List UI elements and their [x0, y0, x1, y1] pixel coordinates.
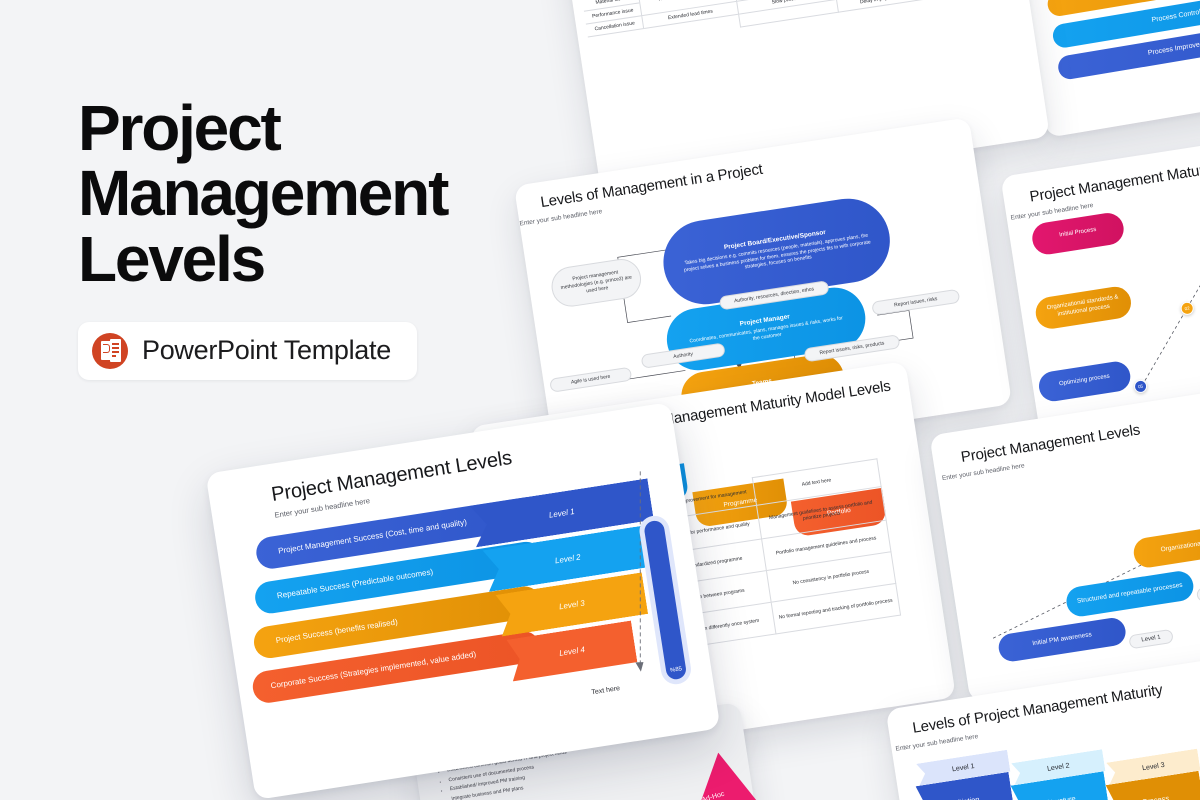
title-line-2: Management	[78, 161, 508, 226]
hero-block: Project Management Levels PowerPoint Tem…	[78, 96, 508, 380]
page-title: Project Management Levels	[78, 96, 508, 292]
adhoc-label: Ad-Hoc	[701, 791, 725, 800]
escalation-table: Project manager 3rd level escalation 4th…	[570, 0, 1017, 50]
title-line-1: Project	[78, 96, 508, 161]
progress-slider-value: %85	[670, 666, 683, 674]
cell-delay-payment: Delay in payment	[836, 0, 922, 12]
powerpoint-icon	[92, 333, 128, 369]
badge-label: PowerPoint Template	[142, 335, 391, 366]
title-line-3: Levels	[78, 227, 508, 292]
slide-pm-levels-steps[interactable]: Project Management Levels Enter your sub…	[929, 384, 1200, 703]
powerpoint-template-badge[interactable]: PowerPoint Template	[78, 322, 417, 380]
slide-subtitle: Enter your sub headline here	[895, 733, 979, 753]
